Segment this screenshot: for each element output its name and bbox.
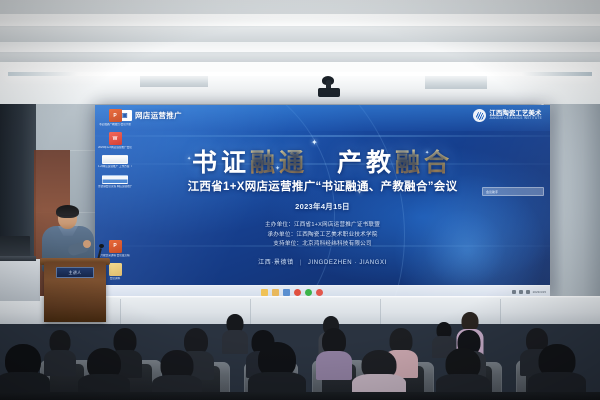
network-icon[interactable] <box>512 290 516 294</box>
brand-logo-right: 江西陶瓷工艺美术 JIANGXI CERAMICS INSTITUTE <box>473 109 542 122</box>
desktop-icon[interactable]: P 书证融通产教融合-会议手册 <box>98 109 132 126</box>
camera-mount <box>318 88 340 97</box>
slide-location: 江西·景德镇|JINGDEZHEN · JIANGXI <box>95 257 550 266</box>
projection-screen-frame: ✦ ✦ ✦ ✦ ✦ ▣ 网店运营推广 江西陶瓷工艺美术 JIANGXI CERA… <box>95 105 550 298</box>
brand-logo-left-text: 网店运营推广 <box>135 110 182 121</box>
file-explorer-icon[interactable] <box>261 289 268 296</box>
player-icon[interactable] <box>316 289 323 296</box>
presenter-laptop <box>0 236 30 258</box>
ppt-file-icon: P <box>109 109 122 122</box>
desktop-icon-label: 书证融通产教融合-会议手册 <box>98 123 132 126</box>
slide-title-part: 产教 <box>308 149 395 177</box>
side-table <box>0 259 40 301</box>
folder-icon[interactable] <box>272 289 279 296</box>
floating-window[interactable]: 会议助手 <box>482 187 544 196</box>
ceiling-light-strip <box>8 72 592 76</box>
slide-organizers: 主办单位：江西省1+X网店运营推广证书联盟 承办单位：江西陶瓷工艺美术职业技术学… <box>95 221 550 250</box>
circle-swirl-icon <box>473 109 486 122</box>
floating-window-title: 会议助手 <box>486 190 498 194</box>
laptop-base <box>0 256 36 261</box>
wps-icon[interactable] <box>294 289 301 296</box>
floor <box>0 392 600 400</box>
brand-logo-right-line2: JIANGXI CERAMICS INSTITUTE <box>489 117 542 120</box>
organizer-line: 支持单位：北京鸿科经纬科技有限公司 <box>95 240 550 250</box>
mail-icon[interactable] <box>283 289 290 296</box>
person-body <box>316 351 352 380</box>
ceiling <box>0 0 600 108</box>
organizer-line: 承办单位：江西陶瓷工艺美术职业技术学院 <box>95 231 550 241</box>
slide-title-part: 书证 <box>192 149 250 177</box>
volume-icon[interactable] <box>519 290 523 294</box>
conference-photo-scene: ✦ ✦ ✦ ✦ ✦ ▣ 网店运营推广 江西陶瓷工艺美术 JIANGXI CERA… <box>0 0 600 400</box>
slide-title-part-gold: 融合 <box>395 149 453 177</box>
taskbar-icon-group <box>261 289 323 296</box>
slide-title: 书证融通 产教融合 <box>95 143 550 179</box>
person-body <box>222 330 248 354</box>
location-en: JINGDEZHEN · JIANGXI <box>308 260 387 266</box>
projection-screen[interactable]: ✦ ✦ ✦ ✦ ✦ ▣ 网店运营推广 江西陶瓷工艺美术 JIANGXI CERA… <box>95 105 550 298</box>
battery-icon[interactable] <box>526 290 530 294</box>
speaker-hand <box>83 240 91 248</box>
podium-name-plate-text: 主讲人 <box>69 270 82 276</box>
chrome-icon[interactable] <box>305 289 312 296</box>
air-vent-icon <box>425 74 487 89</box>
glasses-icon <box>59 215 76 219</box>
organizer-line: 主办单位：江西省1+X网店运营推广证书联盟 <box>95 221 550 231</box>
audience-area <box>0 300 600 400</box>
location-cn: 江西·景德镇 <box>258 260 294 266</box>
slide-date: 2023年4月15日 <box>95 201 550 212</box>
podium-name-plate: 主讲人 <box>56 267 94 278</box>
taskbar-clock[interactable]: 2023/4/15 <box>533 290 546 294</box>
slide-title-part-gold: 融通 <box>250 149 308 177</box>
audience-person <box>316 328 352 380</box>
microphone-icon <box>99 244 104 248</box>
ceiling-soffit <box>0 62 600 108</box>
audience-person <box>222 314 248 354</box>
wall-pillar-right <box>544 104 600 304</box>
location-separator: | <box>300 260 302 266</box>
taskbar-tray[interactable]: 2023/4/15 <box>512 290 550 294</box>
